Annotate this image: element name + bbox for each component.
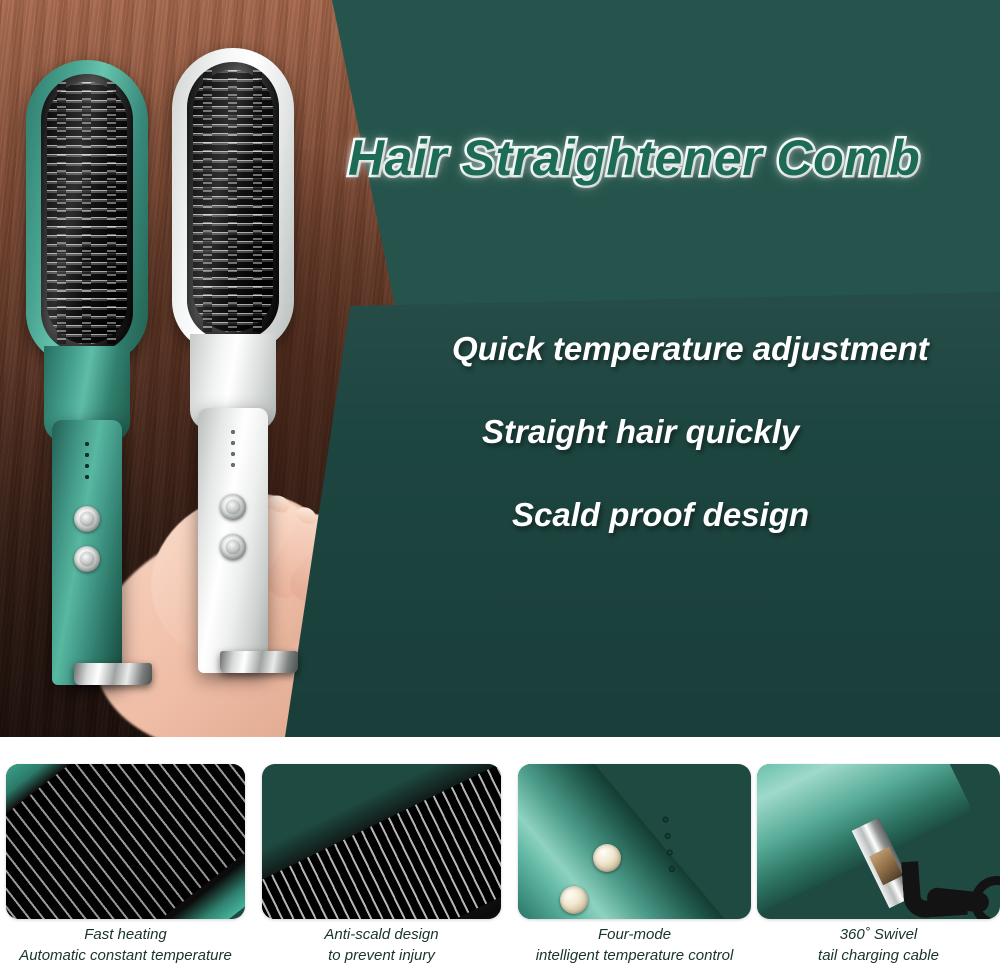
led-indicator-group: [231, 430, 235, 467]
thumbnail-anti-scald[interactable]: [262, 764, 501, 919]
brush-head-white: [172, 48, 294, 353]
caption-line-1: 360˚ Swivel: [757, 924, 1000, 945]
led-indicator-dot: [85, 453, 89, 457]
power-button-inner: [80, 512, 95, 527]
caption-four-mode: Four-mode intelligent temperature contro…: [518, 924, 751, 967]
caption-line-2: to prevent injury: [262, 945, 501, 966]
caption-line-1: Anti-scald design: [262, 924, 501, 945]
product-marketing-image: Hair Straightener Comb Quick temperature…: [0, 0, 1000, 971]
caption-line-1: Fast heating: [6, 924, 245, 945]
power-button[interactable]: [220, 494, 246, 520]
led-indicator-dot: [231, 430, 235, 434]
thumbnail-four-mode[interactable]: [518, 764, 751, 919]
led-indicator-dot: [231, 452, 235, 456]
thumbnail-image-anti-scald: [262, 764, 501, 919]
feature-line-3: Scald proof design: [512, 496, 1000, 534]
led-indicator-dot: [231, 441, 235, 445]
comb-teeth-rows: [262, 764, 501, 919]
handle-closeup: [518, 764, 751, 919]
heating-plate: [41, 74, 133, 352]
temperature-button[interactable]: [220, 534, 246, 560]
thumbnail-swivel-cable[interactable]: [757, 764, 1000, 919]
temperature-button[interactable]: [74, 546, 100, 572]
temperature-button-inner: [80, 552, 95, 567]
thumbnail-image-fast-heating: [6, 764, 245, 919]
comb-teeth-closeup: [262, 764, 501, 919]
bristle-rows: [6, 764, 245, 919]
brush-head-closeup: [6, 764, 245, 919]
caption-line-2: intelligent temperature control: [518, 945, 751, 966]
caption-swivel-cable: 360˚ Swivel tail charging cable: [757, 924, 1000, 967]
page-title: Hair Straightener Comb: [348, 133, 1000, 183]
led-indicator-group: [85, 442, 89, 479]
led-indicator-dot: [666, 848, 674, 856]
led-indicator-dot: [85, 464, 89, 468]
brush-head-green: [26, 60, 148, 365]
thumbnail-image-four-mode: [518, 764, 751, 919]
temperature-button[interactable]: [560, 886, 588, 914]
heating-plate: [187, 62, 279, 340]
chrome-base-ring: [220, 651, 298, 673]
feature-list: Quick temperature adjustment Straight ha…: [440, 330, 1000, 534]
caption-line-2: Automatic constant temperature: [6, 945, 245, 966]
plate-sheen: [187, 62, 279, 340]
caption-anti-scald: Anti-scald design to prevent injury: [262, 924, 501, 967]
plate-sheen: [41, 74, 133, 352]
hero-banner: Hair Straightener Comb Quick temperature…: [0, 0, 1000, 737]
product-white-straightener: [172, 48, 294, 688]
feature-line-2: Straight hair quickly: [482, 413, 1000, 451]
cable-loop: [971, 876, 1000, 919]
led-indicator-dot: [85, 475, 89, 479]
caption-fast-heating: Fast heating Automatic constant temperat…: [6, 924, 245, 967]
led-indicator-dot: [85, 442, 89, 446]
thumbnail-fast-heating[interactable]: [6, 764, 245, 919]
power-button[interactable]: [74, 506, 100, 532]
feature-line-1: Quick temperature adjustment: [452, 330, 1000, 368]
caption-line-1: Four-mode: [518, 924, 751, 945]
chrome-base-ring: [74, 663, 152, 685]
thumbnail-image-swivel-cable: [757, 764, 1000, 919]
power-button-inner: [226, 500, 241, 515]
feature-thumbnail-strip: Fast heating Automatic constant temperat…: [0, 764, 1000, 971]
led-indicator-dot: [663, 832, 671, 840]
product-green-straightener: [26, 60, 148, 680]
power-button[interactable]: [593, 844, 621, 872]
caption-line-2: tail charging cable: [757, 945, 1000, 966]
led-indicator-dot: [661, 815, 669, 823]
led-indicator-dot: [231, 463, 235, 467]
temperature-button-inner: [226, 540, 241, 555]
